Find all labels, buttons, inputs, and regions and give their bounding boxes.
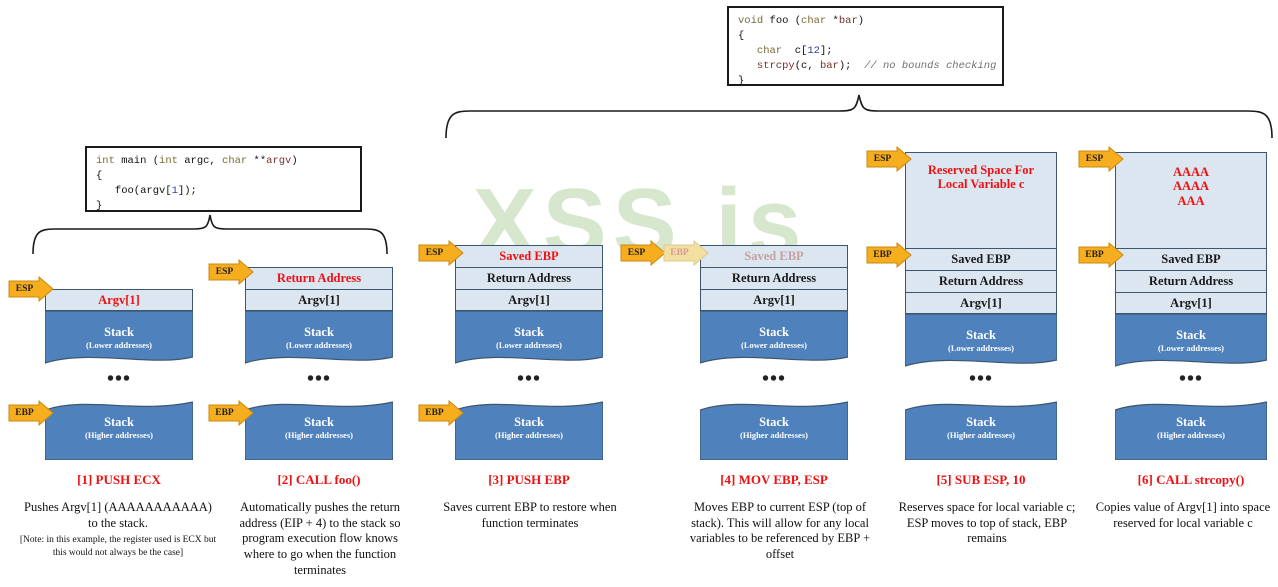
step-1-cell: Argv[1] bbox=[46, 290, 192, 312]
step-5-ellipsis: ••• bbox=[905, 374, 1057, 384]
register-label: ESP bbox=[208, 259, 241, 285]
step-6-cell: Return Address bbox=[1116, 271, 1266, 293]
register-label: ESP bbox=[1078, 146, 1111, 172]
step-4-stack-table: Saved EBPReturn AddressArgv[1] bbox=[700, 245, 848, 311]
register-label: ESP bbox=[620, 240, 653, 266]
step-4-cell: Saved EBP bbox=[701, 246, 847, 268]
step-2-title: [2] CALL foo() bbox=[245, 472, 393, 488]
step-6-title: [6] CALL strcopy() bbox=[1115, 472, 1267, 488]
step-1-ebp-pointer: EBP bbox=[8, 400, 54, 426]
step-1-esp-pointer: ESP bbox=[8, 276, 54, 302]
step-6-stack-lower: Stack(Lower addresses) bbox=[1115, 314, 1267, 372]
overflow-line: AAAA bbox=[1173, 165, 1209, 179]
step-3-stack-lower: Stack(Lower addresses) bbox=[455, 311, 603, 369]
step-2-ellipsis: ••• bbox=[245, 374, 393, 384]
step-2-esp-pointer: ESP bbox=[208, 259, 254, 285]
step-2-cell: Argv[1] bbox=[246, 290, 392, 312]
step-5-esp-pointer: ESP bbox=[866, 146, 912, 172]
step-4-ebp-pointer: EBP bbox=[663, 240, 709, 266]
step-6-ellipsis: ••• bbox=[1115, 374, 1267, 384]
register-label: ESP bbox=[8, 276, 41, 302]
step-2-stack-table: Return AddressArgv[1] bbox=[245, 267, 393, 311]
register-label: ESP bbox=[866, 146, 899, 172]
step-1-caption: Pushes Argv[1] (AAAAAAAAAAA) to the stac… bbox=[18, 500, 218, 559]
step-3-caption: Saves current EBP to restore when functi… bbox=[437, 500, 623, 531]
step-5-cell: Return Address bbox=[906, 271, 1056, 293]
step-5-stack-lower: Stack(Lower addresses) bbox=[905, 314, 1057, 372]
step-6-cell: AAAAAAAAAAA bbox=[1116, 153, 1266, 249]
step-6-esp-pointer: ESP bbox=[1078, 146, 1124, 172]
step-4-stack-lower: Stack(Lower addresses) bbox=[700, 311, 848, 369]
step-5-stack-higher: Stack(Higher addresses) bbox=[905, 400, 1057, 460]
step-6-caption: Copies value of Argv[1] into space reser… bbox=[1092, 500, 1274, 531]
overflow-line: AAAA bbox=[1173, 179, 1209, 193]
step-5-ebp-pointer: EBP bbox=[866, 242, 912, 268]
step-6-cell: Saved EBP bbox=[1116, 249, 1266, 271]
step-1-stack-lower: Stack(Lower addresses) bbox=[45, 311, 193, 369]
step-5-caption: Reserves space for local variable c; ESP… bbox=[892, 500, 1082, 547]
step-2-stack-higher: Stack(Higher addresses) bbox=[245, 400, 393, 460]
register-label: EBP bbox=[866, 242, 899, 268]
step-1-title: [1] PUSH ECX bbox=[45, 472, 193, 488]
step-2-caption: Automatically pushes the return address … bbox=[227, 500, 413, 578]
step-2-cell: Return Address bbox=[246, 268, 392, 290]
step-6-ebp-pointer: EBP bbox=[1078, 242, 1124, 268]
overflow-line: AAA bbox=[1177, 194, 1204, 208]
step-6-stack-table: AAAAAAAAAAASaved EBPReturn AddressArgv[1… bbox=[1115, 152, 1267, 314]
step-3-cell: Argv[1] bbox=[456, 290, 602, 312]
code-block-main: int main (int argc, char **argv) { foo(a… bbox=[85, 146, 362, 212]
step-3-esp-pointer: ESP bbox=[418, 240, 464, 266]
step-6-stack-higher: Stack(Higher addresses) bbox=[1115, 400, 1267, 460]
step-5-cell: Argv[1] bbox=[906, 293, 1056, 315]
step-4-ellipsis: ••• bbox=[700, 374, 848, 384]
step-4-cell: Argv[1] bbox=[701, 290, 847, 312]
step-3-ebp-pointer: EBP bbox=[418, 400, 464, 426]
step-2-ebp-pointer: EBP bbox=[208, 400, 254, 426]
step-4-title: [4] MOV EBP, ESP bbox=[700, 472, 848, 488]
register-label: ESP bbox=[418, 240, 451, 266]
step-5-cell: Reserved Space ForLocal Variable c bbox=[906, 153, 1056, 249]
brace-foo-to-steps bbox=[440, 92, 1278, 140]
step-3-ellipsis: ••• bbox=[455, 374, 603, 384]
step-2-stack-lower: Stack(Lower addresses) bbox=[245, 311, 393, 369]
reserved-space-line: Reserved Space For bbox=[928, 163, 1034, 177]
step-3-title: [3] PUSH EBP bbox=[455, 472, 603, 488]
reserved-space-line: Local Variable c bbox=[938, 177, 1025, 191]
step-5-cell: Saved EBP bbox=[906, 249, 1056, 271]
step-6-cell: Argv[1] bbox=[1116, 293, 1266, 315]
step-3-cell: Saved EBP bbox=[456, 246, 602, 268]
step-4-cell: Return Address bbox=[701, 268, 847, 290]
step-5-stack-table: Reserved Space ForLocal Variable cSaved … bbox=[905, 152, 1057, 314]
step-1-ellipsis: ••• bbox=[45, 374, 193, 384]
register-label: EBP bbox=[8, 400, 41, 426]
code-block-foo: void foo (char *bar) { char c[12]; strcp… bbox=[727, 6, 1004, 86]
register-label: EBP bbox=[1078, 242, 1111, 268]
step-5-title: [5] SUB ESP, 10 bbox=[905, 472, 1057, 488]
step-3-cell: Return Address bbox=[456, 268, 602, 290]
step-4-caption: Moves EBP to current ESP (top of stack).… bbox=[687, 500, 873, 563]
step-3-stack-higher: Stack(Higher addresses) bbox=[455, 400, 603, 460]
step-1-stack-table: Argv[1] bbox=[45, 289, 193, 311]
register-label: EBP bbox=[663, 240, 696, 266]
register-label: EBP bbox=[418, 400, 451, 426]
step-3-stack-table: Saved EBPReturn AddressArgv[1] bbox=[455, 245, 603, 311]
brace-main-to-steps bbox=[28, 212, 392, 256]
register-label: EBP bbox=[208, 400, 241, 426]
step-1-note: [Note: in this example, the register use… bbox=[18, 534, 218, 559]
step-4-esp-pointer: ESP bbox=[620, 240, 666, 266]
step-4-stack-higher: Stack(Higher addresses) bbox=[700, 400, 848, 460]
step-1-stack-higher: Stack(Higher addresses) bbox=[45, 400, 193, 460]
